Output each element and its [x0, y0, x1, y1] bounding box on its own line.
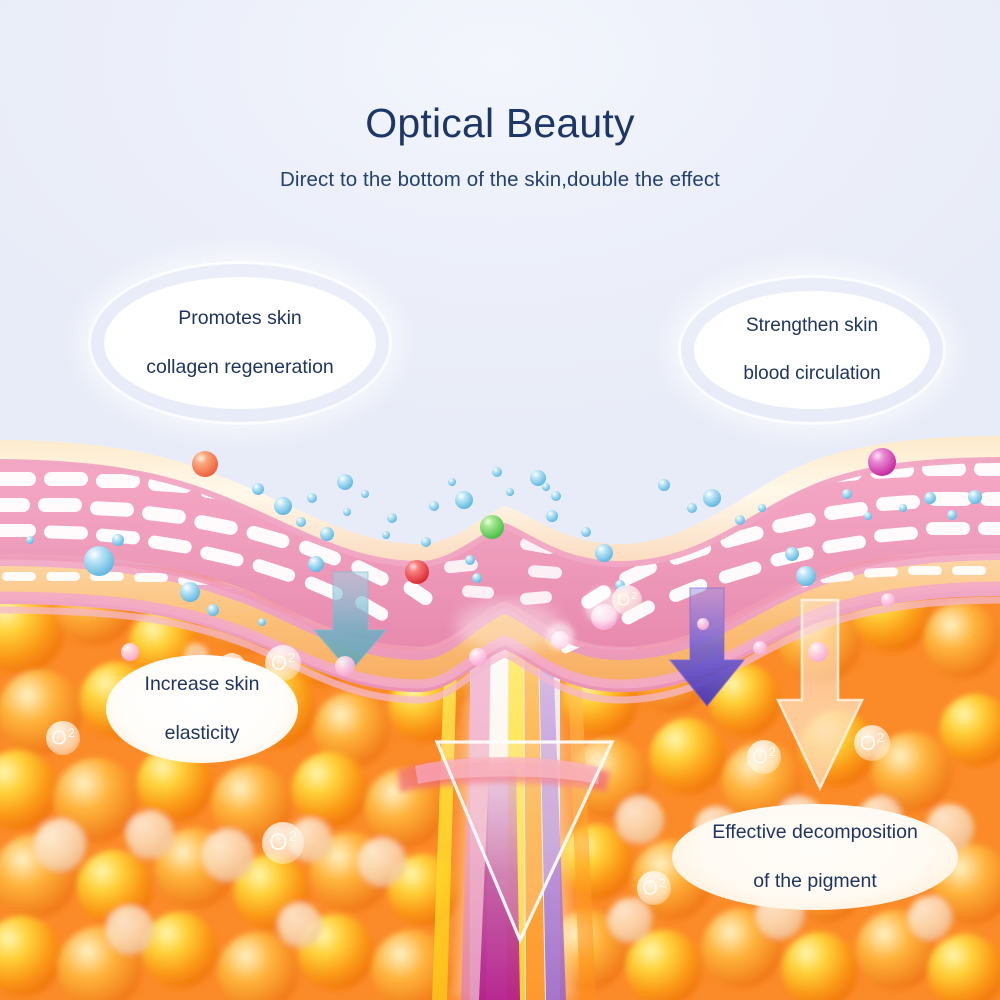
oxygen-molecule-badge: O2 — [612, 585, 642, 615]
oxygen-molecule-badge: O2 — [747, 740, 781, 774]
callout-effective-decomposition[interactable]: Effective decomposition of the pigment — [672, 804, 958, 910]
oxygen-molecule-badge: O2 — [637, 871, 671, 905]
oxygen-molecule-badge: O2 — [262, 822, 304, 864]
page-subtitle: Direct to the bottom of the skin,double … — [0, 168, 1000, 192]
callout-line-2: blood circulation — [733, 362, 890, 386]
callout-line-2: of the pigment — [702, 869, 928, 894]
callout-strengthen-circulation[interactable]: Strengthen skin blood circulation — [694, 291, 930, 409]
particle-red — [405, 560, 429, 584]
callout-line-2: elasticity — [135, 721, 270, 746]
particle-blue-large — [84, 546, 114, 576]
callout-line-1: Strengthen skin — [733, 314, 890, 338]
callout-line-1: Effective decomposition — [702, 820, 928, 845]
callout-line-1: Promotes skin — [136, 306, 344, 331]
particle-green — [480, 515, 504, 539]
oxygen-molecule-badge: O2 — [46, 721, 80, 755]
callout-line-2: collagen regeneration — [136, 355, 344, 380]
callout-line-1: Increase skin — [135, 672, 270, 697]
particle-magenta — [868, 448, 896, 476]
callout-increase-elasticity[interactable]: Increase skin elasticity — [106, 655, 298, 763]
oxygen-molecule-badge: O2 — [854, 725, 890, 761]
particle-orange — [192, 451, 218, 477]
page-title: Optical Beauty — [0, 100, 1000, 147]
diagram-canvas: O2O2O2O2O2O2O2O2 Optical Beauty Direct t… — [0, 0, 1000, 1000]
callout-promotes-collagen[interactable]: Promotes skin collagen regeneration — [104, 277, 376, 409]
